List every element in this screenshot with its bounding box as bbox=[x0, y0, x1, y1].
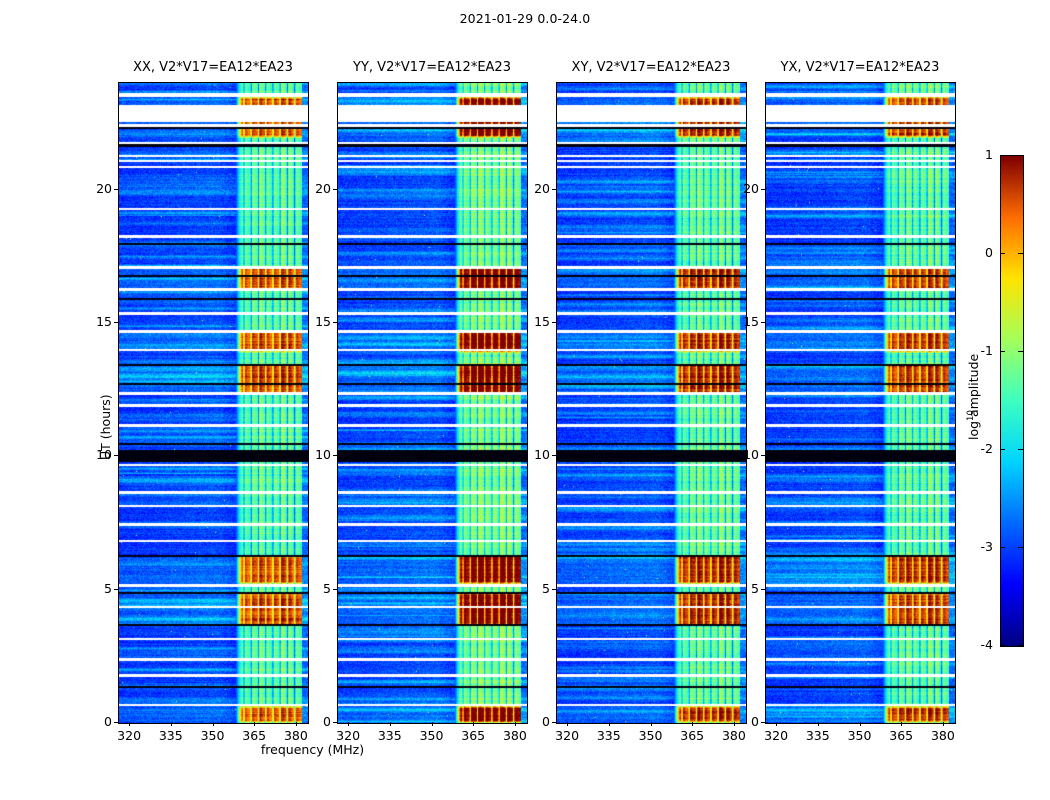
x-tick-mark bbox=[818, 722, 819, 726]
x-tick-mark bbox=[296, 722, 297, 726]
x-tick-label: 380 bbox=[276, 728, 316, 743]
x-tick-mark bbox=[776, 722, 777, 726]
panel-title-yx: YX, V2*V17=EA12*EA23 bbox=[765, 60, 955, 78]
x-tick-label: 365 bbox=[453, 728, 493, 743]
y-tick-mark bbox=[114, 455, 118, 456]
y-tick-label: 20 bbox=[82, 181, 112, 196]
y-tick-mark bbox=[761, 322, 765, 323]
x-tick-mark bbox=[860, 722, 861, 726]
y-tick-mark bbox=[333, 322, 337, 323]
y-tick-mark bbox=[552, 189, 556, 190]
y-tick-mark bbox=[333, 189, 337, 190]
x-tick-mark bbox=[171, 722, 172, 726]
x-tick-label: 365 bbox=[672, 728, 712, 743]
x-tick-mark bbox=[692, 722, 693, 726]
y-tick-label: 5 bbox=[82, 581, 112, 596]
y-tick-label: 15 bbox=[82, 314, 112, 329]
x-tick-label: 350 bbox=[193, 728, 233, 743]
x-tick-label: 350 bbox=[412, 728, 452, 743]
waterfall-image-xx bbox=[119, 83, 308, 723]
colorbar-tick-label: -4 bbox=[967, 637, 993, 652]
colorbar[interactable] bbox=[1000, 155, 1024, 647]
colorbar-tick-mark bbox=[1018, 547, 1023, 548]
y-tick-label: 5 bbox=[520, 581, 550, 596]
x-tick-mark bbox=[515, 722, 516, 726]
colorbar-tick-mark bbox=[1000, 449, 1005, 450]
x-tick-label: 365 bbox=[234, 728, 274, 743]
colorbar-tick-mark bbox=[1018, 449, 1023, 450]
colorbar-tick-label: 1 bbox=[967, 147, 993, 162]
colorbar-label: log10 amplitude bbox=[966, 354, 981, 440]
colorbar-tick-mark bbox=[1000, 645, 1005, 646]
waterfall-image-xy bbox=[557, 83, 746, 723]
y-tick-label: 5 bbox=[729, 581, 759, 596]
x-tick-mark bbox=[432, 722, 433, 726]
y-tick-mark bbox=[114, 722, 118, 723]
y-tick-label: 15 bbox=[301, 314, 331, 329]
x-tick-label: 320 bbox=[756, 728, 796, 743]
x-tick-mark bbox=[943, 722, 944, 726]
colorbar-label-subscript: 10 bbox=[966, 410, 976, 421]
colorbar-tick-label: 0 bbox=[967, 245, 993, 260]
y-tick-label: 15 bbox=[520, 314, 550, 329]
x-tick-mark bbox=[901, 722, 902, 726]
panel-title-yy: YY, V2*V17=EA12*EA23 bbox=[337, 60, 527, 78]
x-tick-mark bbox=[473, 722, 474, 726]
waterfall-panel-xx[interactable] bbox=[118, 82, 309, 724]
y-tick-mark bbox=[552, 322, 556, 323]
colorbar-tick-label: -1 bbox=[967, 343, 993, 358]
x-tick-mark bbox=[348, 722, 349, 726]
y-tick-mark bbox=[114, 322, 118, 323]
y-tick-label: 20 bbox=[520, 181, 550, 196]
y-tick-label: 0 bbox=[729, 714, 759, 729]
colorbar-tick-label: -2 bbox=[967, 441, 993, 456]
y-tick-label: 20 bbox=[729, 181, 759, 196]
y-tick-mark bbox=[114, 189, 118, 190]
x-tick-mark bbox=[567, 722, 568, 726]
colorbar-tick-mark bbox=[1018, 351, 1023, 352]
y-tick-label: 10 bbox=[82, 447, 112, 462]
colorbar-tick-mark bbox=[1018, 645, 1023, 646]
x-tick-label: 320 bbox=[328, 728, 368, 743]
panel-title-xy: XY, V2*V17=EA12*EA23 bbox=[556, 60, 746, 78]
x-tick-label: 320 bbox=[547, 728, 587, 743]
x-axis-label-1: frequency (MHz) bbox=[193, 742, 433, 757]
colorbar-tick-mark bbox=[1018, 253, 1023, 254]
waterfall-panel-yy[interactable] bbox=[337, 82, 528, 724]
x-tick-label: 350 bbox=[631, 728, 671, 743]
x-tick-label: 335 bbox=[151, 728, 191, 743]
y-tick-label: 0 bbox=[301, 714, 331, 729]
colorbar-tick-mark bbox=[1000, 351, 1005, 352]
colorbar-tick-label: -3 bbox=[967, 539, 993, 554]
x-tick-label: 380 bbox=[714, 728, 754, 743]
y-tick-mark bbox=[761, 589, 765, 590]
y-tick-mark bbox=[333, 589, 337, 590]
x-tick-mark bbox=[609, 722, 610, 726]
y-tick-label: 20 bbox=[301, 181, 331, 196]
y-tick-mark bbox=[761, 722, 765, 723]
panel-title-xx: XX, V2*V17=EA12*EA23 bbox=[118, 60, 308, 78]
x-tick-mark bbox=[213, 722, 214, 726]
x-tick-label: 320 bbox=[109, 728, 149, 743]
x-tick-label: 335 bbox=[589, 728, 629, 743]
y-tick-mark bbox=[333, 455, 337, 456]
x-tick-label: 365 bbox=[881, 728, 921, 743]
colorbar-gradient bbox=[1001, 156, 1023, 646]
x-tick-mark bbox=[254, 722, 255, 726]
waterfall-panel-yx[interactable] bbox=[765, 82, 956, 724]
x-tick-label: 335 bbox=[370, 728, 410, 743]
y-tick-mark bbox=[761, 455, 765, 456]
y-tick-label: 10 bbox=[520, 447, 550, 462]
figure-canvas: 2021-01-29 0.0-24.0 XX, V2*V17=EA12*EA23… bbox=[0, 0, 1050, 800]
waterfall-image-yy bbox=[338, 83, 527, 723]
y-tick-label: 10 bbox=[301, 447, 331, 462]
y-tick-mark bbox=[552, 722, 556, 723]
colorbar-tick-mark bbox=[1000, 253, 1005, 254]
colorbar-tick-mark bbox=[1000, 155, 1005, 156]
waterfall-image-yx bbox=[766, 83, 955, 723]
y-tick-label: 5 bbox=[301, 581, 331, 596]
x-tick-label: 380 bbox=[495, 728, 535, 743]
x-tick-mark bbox=[390, 722, 391, 726]
figure-suptitle: 2021-01-29 0.0-24.0 bbox=[0, 11, 1050, 26]
y-tick-mark bbox=[552, 589, 556, 590]
x-tick-mark bbox=[129, 722, 130, 726]
y-tick-mark bbox=[552, 455, 556, 456]
colorbar-tick-mark bbox=[1018, 155, 1023, 156]
y-tick-label: 15 bbox=[729, 314, 759, 329]
waterfall-panel-xy[interactable] bbox=[556, 82, 747, 724]
colorbar-tick-mark bbox=[1000, 547, 1005, 548]
x-tick-label: 335 bbox=[798, 728, 838, 743]
y-tick-label: 10 bbox=[729, 447, 759, 462]
x-tick-label: 380 bbox=[923, 728, 963, 743]
y-tick-mark bbox=[333, 722, 337, 723]
y-tick-mark bbox=[114, 589, 118, 590]
y-tick-label: 0 bbox=[520, 714, 550, 729]
y-tick-mark bbox=[761, 189, 765, 190]
x-tick-mark bbox=[651, 722, 652, 726]
colorbar-label-main: log bbox=[966, 421, 981, 440]
y-tick-label: 0 bbox=[82, 714, 112, 729]
x-tick-label: 350 bbox=[840, 728, 880, 743]
